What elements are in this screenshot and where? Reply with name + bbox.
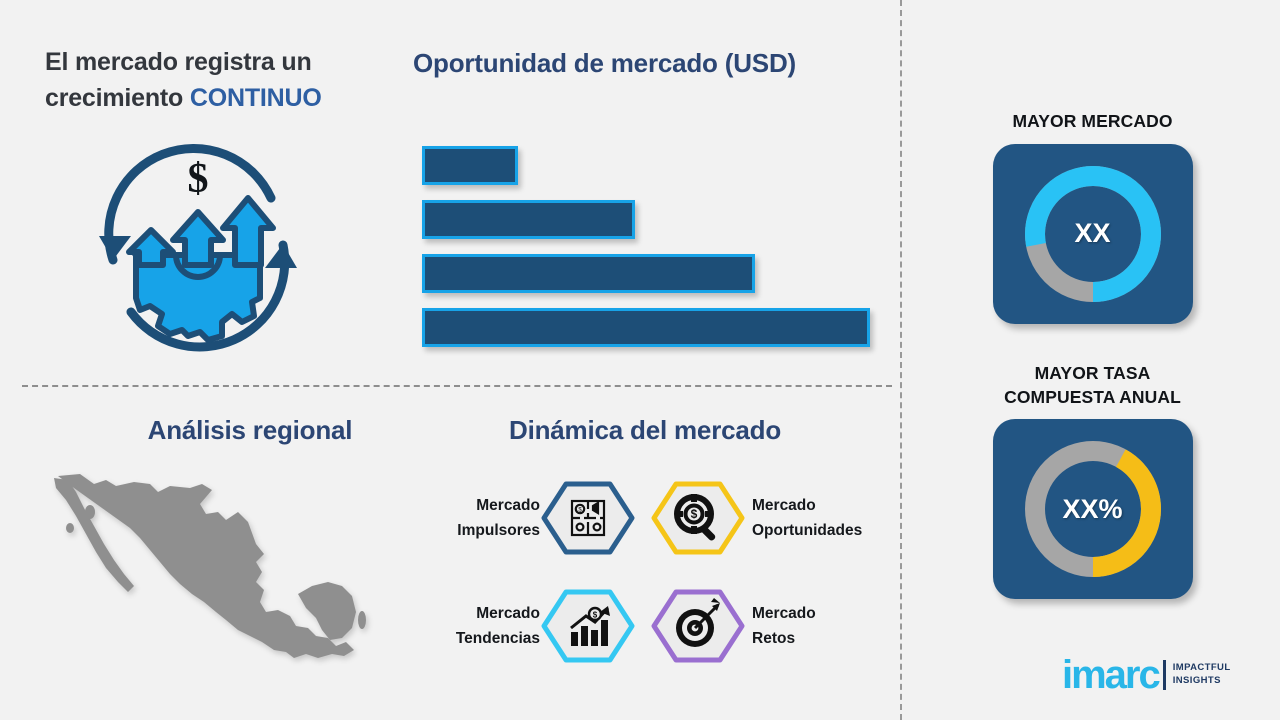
growth-panel: El mercado registra un crecimiento CONTI… (45, 45, 385, 375)
dynamics-item-retos[interactable]: Mercado Retos (650, 588, 900, 664)
oportunidades-label-line2: Oportunidades (752, 522, 862, 539)
puzzle-pieces-icon: $ (540, 480, 636, 556)
regional-title: Análisis regional (90, 415, 410, 446)
kpi-rail: MAYOR MERCADO XX MAYOR TASA COMPUESTA AN… (905, 0, 1280, 720)
retos-label-line1: Mercado (752, 605, 816, 622)
mexico-map (50, 470, 380, 680)
growth-title-accent: CONTINUO (190, 84, 322, 112)
horizontal-divider (22, 385, 892, 387)
bar-item (422, 308, 870, 347)
target-dart-icon (650, 588, 746, 664)
impulsores-label-line1: Mercado (476, 497, 540, 514)
dynamics-row: Mercado Impulsores $ (400, 475, 900, 561)
bar-item (422, 200, 635, 239)
kpi-largest-market: MAYOR MERCADO XX (905, 110, 1280, 324)
growth-gear-arrows-icon: $ (73, 140, 323, 370)
infographic-canvas: El mercado registra un crecimiento CONTI… (0, 0, 1280, 720)
growth-bar-chart-icon: $ (540, 588, 636, 664)
growth-title-line2: crecimiento (45, 84, 190, 112)
kpi-highest-cagr: MAYOR TASA COMPUESTA ANUAL XX% (905, 362, 1280, 599)
regional-analysis-panel: Análisis regional (45, 415, 395, 705)
svg-text:$: $ (593, 611, 598, 620)
tagline-line2: INSIGHTS (1173, 675, 1221, 686)
svg-text:$: $ (691, 507, 698, 521)
largest-market-card: XX (993, 144, 1193, 324)
tagline-line1: IMPACTFUL (1173, 662, 1231, 673)
tendencias-label-line2: Tendencias (456, 630, 540, 647)
largest-market-value: XX (993, 218, 1193, 249)
growth-title-line1: El mercado registra un (45, 48, 312, 76)
highest-cagr-card: XX% (993, 419, 1193, 599)
dynamics-item-oportunidades[interactable]: $ Mercado Oportunidades (650, 480, 900, 556)
bar-item (422, 254, 755, 293)
dynamics-item-tendencias[interactable]: Mercado Tendencias (400, 588, 650, 664)
bar-item (422, 146, 518, 185)
imarc-logo: imarc IMPACTFUL INSIGHTS (1062, 655, 1231, 695)
retos-label-line2: Retos (752, 630, 795, 647)
logo-divider (1163, 660, 1166, 690)
market-opportunity-panel: Oportunidad de mercado (USD) (413, 48, 883, 368)
dynamics-title: Dinámica del mercado (400, 415, 890, 446)
highest-cagr-title: MAYOR TASA COMPUESTA ANUAL (905, 362, 1280, 409)
imarc-wordmark: imarc (1062, 655, 1159, 695)
dollar-symbol: $ (188, 156, 209, 202)
magnifier-dollar-icon: $ (650, 480, 746, 556)
market-dynamics-panel: Dinámica del mercado Mercado Impulsores (400, 415, 900, 705)
imarc-tagline: IMPACTFUL INSIGHTS (1173, 662, 1231, 688)
largest-market-title: MAYOR MERCADO (905, 110, 1280, 134)
dynamics-row: Mercado Tendencias (400, 583, 900, 669)
highest-cagr-value: XX% (993, 494, 1193, 525)
oportunidades-label-line1: Mercado (752, 497, 816, 514)
growth-title: El mercado registra un crecimiento CONTI… (45, 45, 385, 116)
opportunity-bar-chart (422, 146, 870, 362)
opportunity-title: Oportunidad de mercado (USD) (413, 48, 883, 79)
highest-cagr-title-line2: COMPUESTA ANUAL (1004, 387, 1181, 407)
dynamics-grid: Mercado Impulsores $ (400, 475, 900, 669)
tendencias-label-line1: Mercado (476, 605, 540, 622)
impulsores-label-line2: Impulsores (457, 522, 540, 539)
vertical-divider (900, 0, 902, 720)
dynamics-item-impulsores[interactable]: Mercado Impulsores $ (400, 480, 650, 556)
highest-cagr-title-line1: MAYOR TASA (1035, 363, 1151, 383)
